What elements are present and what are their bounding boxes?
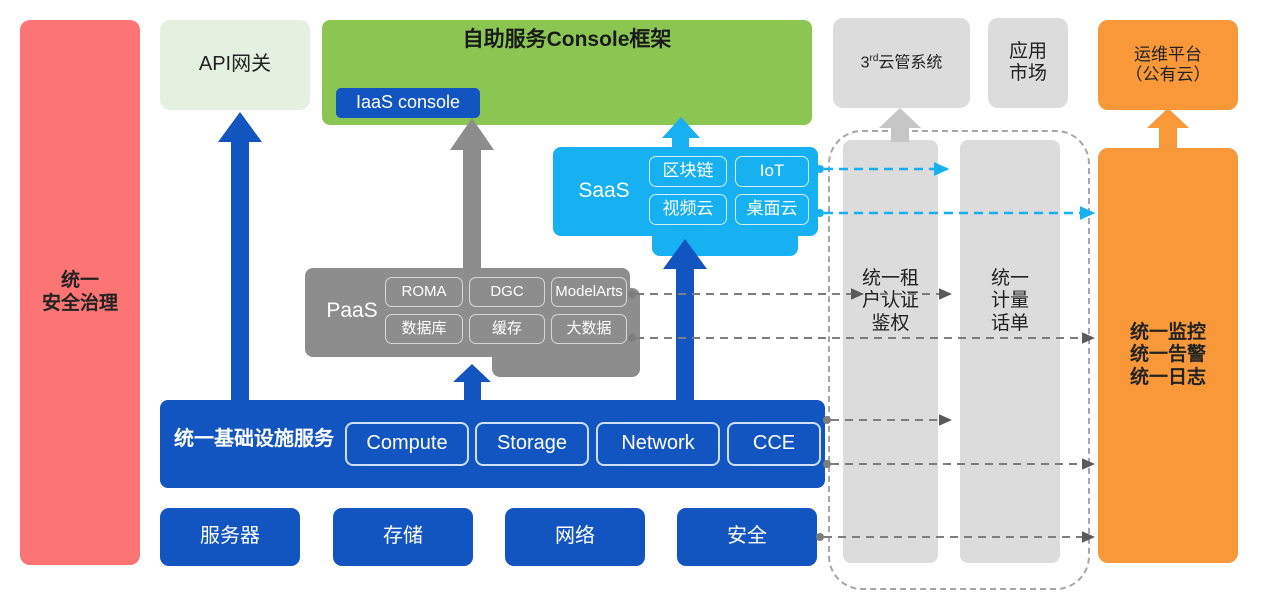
metering-billing-bar: 统一 计量 话单 [960,140,1060,563]
infrastructure-layer-box: 统一基础设施服务 Compute Storage Network CCE [160,400,825,488]
api-gateway-box: API网关 [160,20,310,110]
infrastructure-layer-label: 统一基础设施服务 [174,428,334,452]
arrow-infra-to-paas [453,364,491,400]
saas-tag-video-cloud[interactable]: 视频云 [649,194,727,225]
tenant-auth-line3: 鉴权 [862,313,919,335]
paas-tag-modelarts[interactable]: ModelArts [551,277,627,307]
hardware-network-box: 网络 [505,508,645,566]
api-gateway-label: API网关 [199,53,271,77]
infra-tag-compute[interactable]: Compute [345,422,469,466]
ops-capability-monitoring: 统一监控 [1130,322,1206,344]
metering-line1: 统一 [991,268,1029,290]
arrow-ops-capabilities-to-platform [1147,108,1189,148]
saas-layer-box: SaaS 区块链 IoT 视频云 桌面云 [553,147,818,236]
security-governance-panel: 统一 安全治理 [20,20,140,565]
paas-tag-dgc[interactable]: DGC [469,277,545,307]
hardware-security-box: 安全 [677,508,817,566]
self-service-console-frame: 自助服务Console框架 IaaS console PaaS console … [322,20,812,125]
hardware-server-box: 服务器 [160,508,300,566]
hardware-storage-box: 存储 [333,508,473,566]
saas-tag-blockchain[interactable]: 区块链 [649,156,727,187]
security-governance-line2: 安全治理 [42,293,118,315]
console-frame-title: 自助服务Console框架 [322,28,812,53]
arrow-paas-to-console [450,118,494,268]
architecture-diagram: 统一 安全治理 API网关 自助服务Console框架 IaaS console… [0,0,1265,605]
third-party-cloud-mgmt-label: 3rd云管系统 [861,53,943,73]
app-market-line2: 市场 [1009,63,1047,85]
tenant-auth-bar: 统一租 户认证 鉴权 [843,140,938,563]
ops-capability-log: 统一日志 [1130,367,1206,389]
saas-layer-label: SaaS [567,179,641,204]
ops-capability-alarm: 统一告警 [1130,344,1206,366]
paas-tag-roma[interactable]: ROMA [385,277,463,307]
app-market-box: 应用 市场 [988,18,1068,108]
arrow-infra-to-saas [663,239,707,400]
tenant-auth-line1: 统一租 [862,268,919,290]
infra-tag-cce[interactable]: CCE [727,422,821,466]
metering-line3: 话单 [991,313,1029,335]
saas-tag-desktop-cloud[interactable]: 桌面云 [735,194,809,225]
ops-platform-line2: （公有云） [1126,65,1211,85]
paas-tag-database[interactable]: 数据库 [385,314,463,344]
paas-layer-box: PaaS ROMA DGC ModelArts 数据库 缓存 大数据 [305,268,630,357]
paas-layer-label: PaaS [315,299,389,324]
infra-tag-network[interactable]: Network [596,422,720,466]
ops-platform-box: 运维平台 （公有云） [1098,20,1238,110]
security-governance-line1: 统一 [42,270,118,292]
metering-line2: 计量 [991,290,1029,312]
ops-capabilities-panel: 统一监控 统一告警 统一日志 [1098,148,1238,563]
third-party-cloud-mgmt-box: 3rd云管系统 [833,18,970,108]
paas-tag-bigdata[interactable]: 大数据 [551,314,627,344]
saas-tag-iot[interactable]: IoT [735,156,809,187]
app-market-line1: 应用 [1009,41,1047,63]
paas-tag-cache[interactable]: 缓存 [469,314,545,344]
tenant-auth-line2: 户认证 [862,290,919,312]
infra-tag-storage[interactable]: Storage [475,422,589,466]
iaas-console-button[interactable]: IaaS console [336,88,480,118]
ops-platform-line1: 运维平台 [1126,45,1211,65]
arrow-infra-to-api-gateway [218,112,262,400]
